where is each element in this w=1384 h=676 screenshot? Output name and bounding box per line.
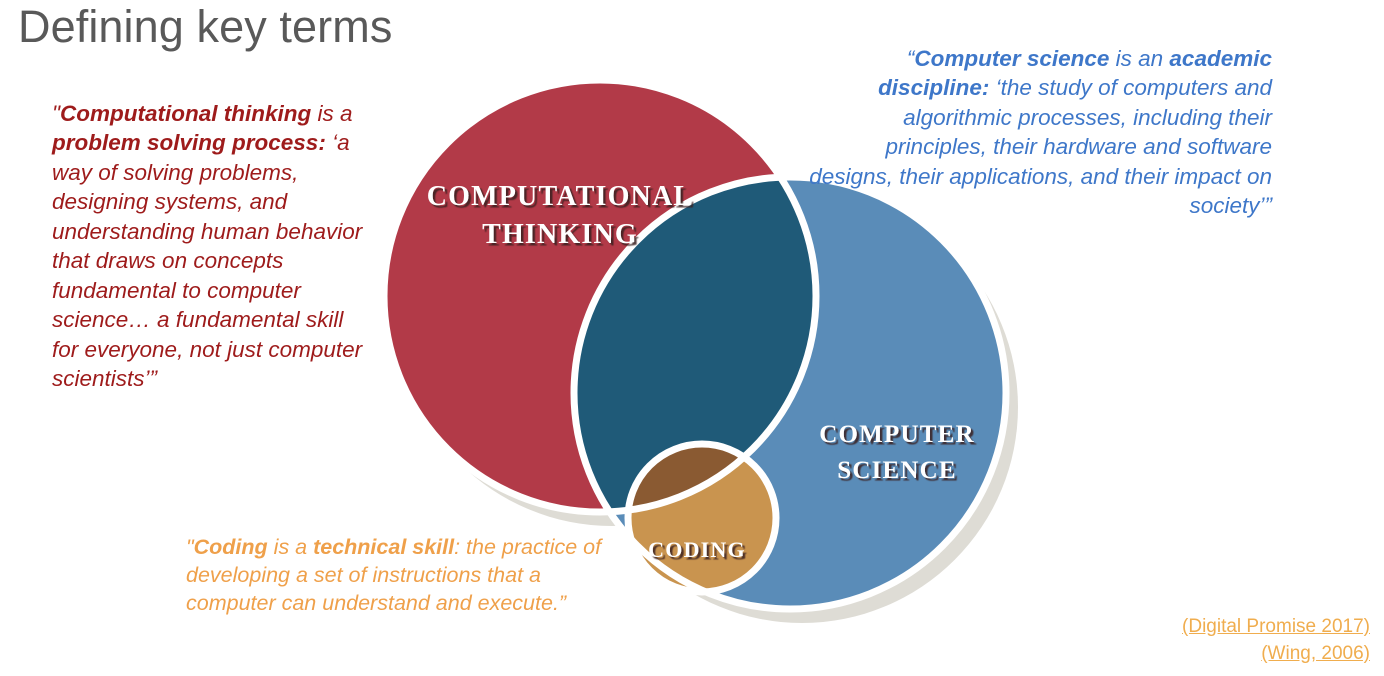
label-computer-science: COMPUTER SCIENCE [819, 421, 974, 484]
quote-computer-science: “Computer science is an academic discipl… [808, 44, 1272, 221]
quote-ct-category: problem solving process: [52, 130, 326, 155]
label-computational-thinking: COMPUTATIONAL THINKING [427, 181, 694, 250]
region-coding-ct-intersection [384, 80, 816, 512]
citations: (Digital Promise 2017) (Wing, 2006) [1182, 613, 1370, 668]
region-ct-cs-intersection [574, 177, 1006, 609]
outline-coding [628, 444, 776, 592]
circle-coding[interactable] [628, 444, 776, 592]
quote-ct-body: ‘a way of solving problems, designing sy… [52, 130, 362, 391]
label-ct-line2: THINKING [482, 219, 638, 250]
quote-cs-term: Computer science [914, 46, 1109, 71]
shadow-computer-science [586, 191, 1018, 623]
quote-coding-connector: is a [268, 535, 313, 559]
label-cs-line2: SCIENCE [837, 457, 957, 484]
quote-ct-term: Computational thinking [60, 101, 311, 126]
quote-coding-term: Coding [194, 535, 268, 559]
circle-computer-science[interactable] [574, 177, 1006, 609]
label-cs-line1: COMPUTER [819, 421, 974, 448]
citation-link-digital-promise[interactable]: (Digital Promise 2017) [1182, 613, 1370, 641]
page-title: Defining key terms [18, 2, 392, 52]
quote-ct-open: " [52, 101, 60, 126]
outline-computational-thinking [384, 80, 816, 512]
slide-canvas: Defining key terms [0, 0, 1384, 676]
quote-cs-connector: is an [1109, 46, 1169, 71]
circle-computational-thinking[interactable] [384, 80, 816, 512]
quote-coding: "Coding is a technical skill: the practi… [186, 533, 606, 617]
outline-computer-science [574, 177, 1006, 609]
quote-coding-category: technical skill [313, 535, 454, 559]
label-coding: CODING [648, 537, 746, 562]
quote-computational-thinking: "Computational thinking is a problem sol… [52, 99, 370, 394]
quote-coding-open: " [186, 535, 194, 559]
quote-ct-connector: is a [311, 101, 352, 126]
shadow-computational-thinking [396, 94, 828, 526]
citation-link-wing[interactable]: (Wing, 2006) [1182, 640, 1370, 668]
label-coding-text: CODING [648, 537, 746, 562]
label-ct-line1: COMPUTATIONAL [427, 181, 694, 212]
